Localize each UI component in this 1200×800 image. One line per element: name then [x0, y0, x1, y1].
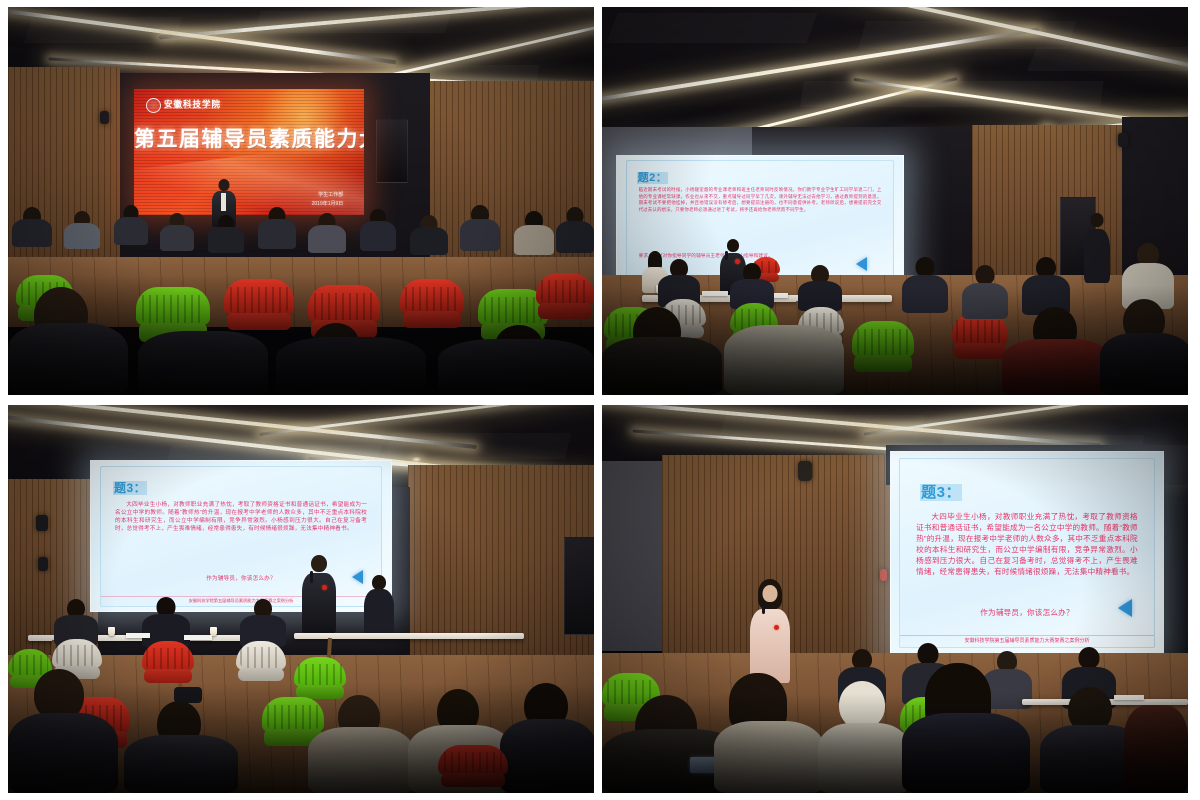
slide-heading: 题3： — [113, 479, 147, 496]
wall-indicator — [880, 569, 887, 581]
speaker-cabinet — [564, 537, 594, 635]
slide-heading: 题2： — [637, 169, 669, 185]
paper-cup — [108, 627, 115, 636]
projection-screen: 题3： 大四毕业生小杨，对教师职业充满了热忱，考取了教师资格证书和普通话证书，希… — [890, 451, 1164, 655]
spotlight — [100, 111, 109, 124]
collage-panel-bottom-left: 题3： 大四毕业生小杨，对教师职业充满了热忱，考取了教师资格证书和普通话证书，希… — [8, 405, 594, 793]
audience-foreground-member — [1100, 299, 1188, 395]
ceiling-panel — [385, 433, 571, 459]
standing-attendee — [1084, 213, 1110, 283]
chair — [142, 641, 194, 689]
audience-member — [160, 213, 194, 251]
collage-panel-bottom-right: 题3： 大四毕业生小杨，对教师职业充满了热忱，考取了教师资格证书和普通话证书，希… — [602, 405, 1188, 793]
audience-foreground-member — [1002, 307, 1112, 395]
presenter-badge — [322, 585, 327, 590]
back-triangle-icon — [352, 570, 363, 584]
audience-member — [514, 211, 554, 255]
audience-member — [64, 211, 100, 249]
photo-collage: 安徽科技学院 Anhui Science and Technology Univ… — [0, 0, 1200, 800]
audience-member — [12, 207, 52, 247]
microphone — [725, 251, 728, 260]
audience-member — [114, 205, 148, 245]
audience-foreground-member — [724, 325, 844, 395]
audience-member — [556, 207, 594, 253]
audience-foreground-member — [124, 701, 238, 793]
spotlight — [36, 515, 48, 531]
speaker-cabinet — [376, 119, 408, 183]
score-sheet — [184, 635, 212, 640]
audience-member — [360, 209, 396, 251]
chair — [952, 313, 1008, 365]
back-triangle-icon — [856, 257, 867, 271]
audience-member — [208, 215, 244, 253]
led-screen: 安徽科技学院 Anhui Science and Technology Univ… — [134, 89, 364, 215]
spotlight — [38, 557, 48, 571]
chair — [236, 641, 286, 687]
phone-in-hand — [690, 757, 716, 773]
downlight — [412, 457, 421, 462]
judge — [798, 265, 842, 311]
spotlight — [1118, 133, 1128, 147]
presenter-head — [763, 585, 778, 602]
logo-name-en: Anhui Science and Technology University — [164, 108, 221, 111]
audience-foreground-member — [438, 325, 594, 395]
audience-member — [902, 257, 948, 313]
judge — [240, 599, 286, 647]
score-sheet — [126, 633, 150, 638]
assistant — [364, 575, 394, 637]
audience-foreground-member — [276, 323, 426, 395]
audience-member — [460, 205, 500, 251]
presenter-badge — [774, 625, 779, 630]
event-title: 第五届辅导员素质能力大赛 — [134, 123, 364, 153]
audience-foreground-member — [308, 695, 414, 793]
audience-foreground-member — [818, 681, 910, 793]
audience-member — [258, 207, 296, 249]
audience-area — [8, 203, 594, 395]
presenter-in-pink-coat — [750, 579, 790, 683]
microphone — [310, 571, 313, 583]
audience-foreground-member — [714, 673, 824, 793]
score-sheet — [702, 291, 728, 296]
slide-body: 大四毕业生小杨，对教师职业充满了热忱，考取了教师资格证书和普通话证书，希望能成为… — [916, 511, 1138, 577]
presenter-coat — [750, 609, 790, 683]
audience-foreground-member — [1124, 705, 1188, 793]
audience-foreground-member — [602, 307, 722, 395]
back-triangle-icon — [1118, 599, 1132, 617]
audience-foreground-member — [8, 287, 128, 395]
chair — [536, 273, 594, 325]
projection-screen: 题3： 大四毕业生小杨，对教师职业充满了热忱，考取了教师资格证书和普通话证书，希… — [90, 460, 392, 612]
slide-heading: 题3： — [920, 481, 962, 502]
judge — [142, 597, 190, 647]
slide-frame: 题3： 大四毕业生小杨，对教师职业充满了热忱，考取了教师资格证书和普通话证书，希… — [100, 466, 382, 607]
microphone — [762, 601, 765, 614]
university-logo: 安徽科技学院 Anhui Science and Technology Univ… — [146, 98, 221, 113]
audience-foreground-member — [500, 683, 594, 793]
audience-member — [410, 215, 448, 255]
ceiling-panel — [607, 13, 818, 43]
slide-body: 大四毕业生小杨，对教师职业充满了热忱，考取了教师资格证书和普通话证书，希望能成为… — [115, 501, 367, 533]
slide-question: 作为辅导员，你该怎么办？ — [916, 607, 1138, 618]
presenter-coat — [302, 573, 336, 633]
spotlight — [798, 461, 812, 481]
collage-panel-top-right: 题2： 临近期末考试的时候，小杨寝室烟的专业课老师和班主任老师同时反映情况，你们… — [602, 7, 1188, 395]
collage-panel-top-left: 安徽科技学院 Anhui Science and Technology Univ… — [8, 7, 594, 395]
audience-foreground-member — [902, 663, 1030, 793]
presenter-with-microphone — [302, 555, 336, 633]
university-seal-icon — [146, 98, 161, 113]
event-subline-1: 学生工作部 — [318, 192, 343, 200]
audience-foreground-member — [8, 669, 118, 793]
presenter-head — [311, 555, 327, 572]
slide-body: 临近期末考试的时候，小杨寝室烟的专业课老师和班主任老师同时反映情况，你们教学专业… — [639, 187, 882, 213]
chair — [852, 321, 914, 379]
presenter-head — [219, 179, 230, 191]
audience-foreground-member — [138, 331, 268, 395]
audience-member — [308, 213, 346, 253]
slide-frame: 题3： 大四毕业生小杨，对教师职业充满了热忱，考取了教师资格证书和普通话证书，希… — [899, 458, 1155, 648]
chair — [438, 745, 508, 793]
